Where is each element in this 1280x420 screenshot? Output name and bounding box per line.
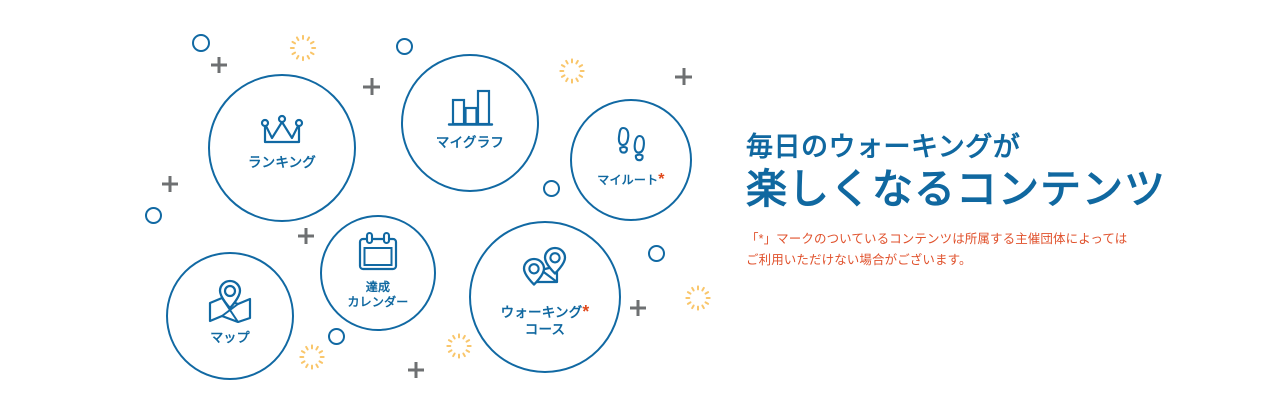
footprints-icon-wrap [610,123,652,163]
decor-sunburst-icon [443,330,475,362]
feature-label-line-1: ウォーキング* [501,301,590,322]
asterisk-marker: * [582,301,589,321]
decor-plus-icon [630,300,646,316]
feature-label-line-2: カレンダー [347,295,408,310]
hero-banner: ランキング マイグラフ マイルート* マップ 達成カレンダー ウォーキング*コー… [0,0,1280,420]
footnote: 「*」マークのついているコンテンツは所属する主催団体によっては ご利用いただけな… [746,229,1216,270]
map-pin-icon [204,279,256,323]
decor-plus-icon [162,176,178,192]
calendar-icon [356,231,400,273]
decor-ring-icon [192,34,210,52]
decor-sunburst-icon [556,55,588,87]
decor-ring-icon [145,207,162,224]
crown-icon-wrap [259,114,305,148]
feature-label-line-1: マイルート* [597,170,664,190]
bar-chart-icon [446,86,494,128]
feature-label-my-route: マイルート* [597,170,664,190]
decor-plus-icon [675,68,692,85]
feature-circle-map[interactable]: マップ [166,252,294,380]
footnote-line-2: ご利用いただけない場合がございます。 [746,250,1216,270]
decor-sunburst-icon [296,341,328,373]
decor-ring-icon [648,245,665,262]
decor-plus-icon [211,57,227,73]
feature-label-ranking: ランキング [248,155,316,171]
feature-label-line-1: マイグラフ [436,135,504,151]
decor-plus-icon [298,228,314,244]
feature-label-line-1: ランキング [248,155,316,171]
decor-ring-icon [543,180,560,197]
decor-plus-icon [408,362,424,378]
footnote-line-1: 「*」マークのついているコンテンツは所属する主催団体によっては [746,229,1216,249]
feature-circle-walking-course[interactable]: ウォーキング*コース [469,221,621,373]
feature-label-line-1: 達成 [347,280,408,295]
route-pins-icon-wrap [517,246,573,294]
asterisk-marker: * [658,171,664,188]
feature-label-my-graph: マイグラフ [436,135,504,151]
route-pins-icon [517,246,573,294]
calendar-icon-wrap [356,231,400,273]
headline-block: 毎日のウォーキングが 楽しくなるコンテンツ 「*」マークのついているコンテンツは… [746,132,1216,270]
feature-label-line-2: コース [501,322,590,338]
decor-sunburst-icon [682,282,714,314]
headline-line-1: 毎日のウォーキングが [746,132,1216,163]
decor-ring-icon [396,38,413,55]
crown-icon [259,114,305,148]
decor-ring-icon [328,328,345,345]
feature-label-achievement-calendar: 達成カレンダー [347,280,408,309]
decor-plus-icon [363,78,380,95]
bar-chart-icon-wrap [446,86,494,128]
feature-circle-my-graph[interactable]: マイグラフ [401,54,539,192]
decor-sunburst-icon [286,31,320,65]
feature-circle-achievement-calendar[interactable]: 達成カレンダー [320,215,436,331]
map-pin-icon-wrap [204,279,256,323]
feature-label-line-1: マップ [210,330,250,346]
feature-circle-my-route[interactable]: マイルート* [570,99,692,221]
feature-label-map: マップ [210,330,250,346]
footprints-icon [610,123,652,163]
feature-circle-ranking[interactable]: ランキング [208,74,356,222]
feature-label-walking-course: ウォーキング*コース [501,301,590,339]
headline-line-2: 楽しくなるコンテンツ [746,165,1216,213]
